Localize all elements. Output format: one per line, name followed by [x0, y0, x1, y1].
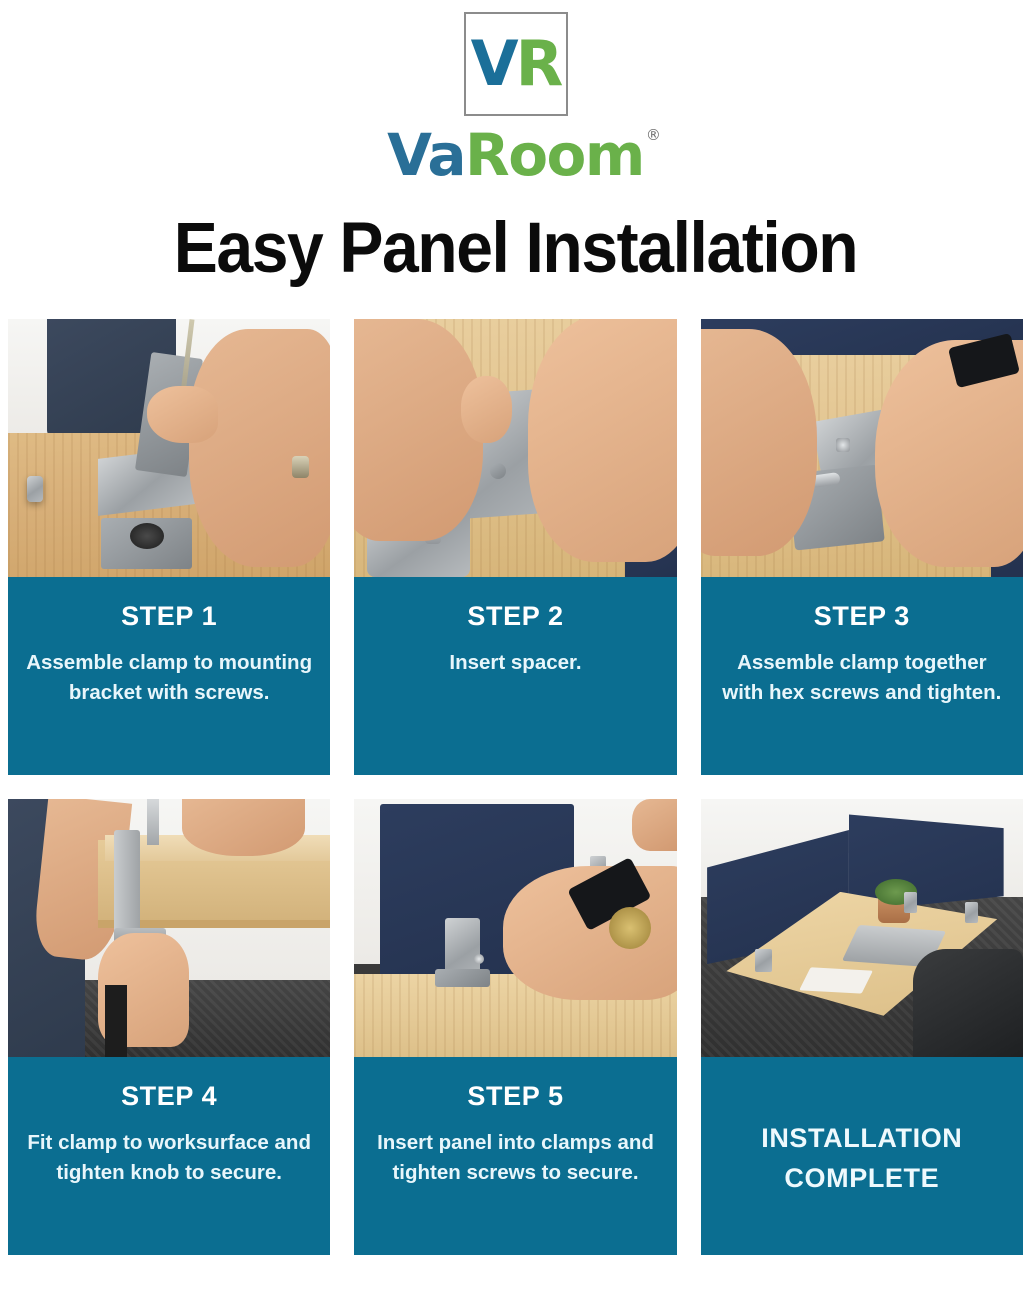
- photo-hand-top-corner: [632, 799, 677, 851]
- logo-wordmark: VaRoom®: [387, 126, 644, 184]
- step-card-3: STEP 3 Assemble clamp together with hex …: [701, 319, 1023, 775]
- step-caption-4: STEP 4 Fit clamp to worksurface and tigh…: [8, 1057, 330, 1255]
- step-photo-1: [8, 319, 330, 577]
- photo-clamp-foot: [435, 969, 490, 987]
- step-photo-4: [8, 799, 330, 1057]
- step-title-1: STEP 1: [22, 601, 316, 632]
- step-caption-2: STEP 2 Insert spacer.: [354, 577, 676, 775]
- step-photo-3: [701, 319, 1023, 577]
- steps-grid: STEP 1 Assemble clamp to mounting bracke…: [0, 319, 1031, 1255]
- logo-letter-r: R: [516, 27, 561, 100]
- logo-word-va: Va: [387, 121, 465, 189]
- photo-clamp-b: [904, 892, 917, 913]
- photo-ring: [292, 456, 309, 478]
- step-photo-5: [354, 799, 676, 1057]
- step-body-4: Fit clamp to worksurface and tighten kno…: [22, 1128, 316, 1187]
- photo-knob: [130, 523, 164, 549]
- step-body-2: Insert spacer.: [368, 648, 662, 678]
- logo-mark-letters: VR: [471, 33, 561, 95]
- step-body-1: Assemble clamp to mounting bracket with …: [22, 648, 316, 707]
- photo-hand-right: [189, 329, 331, 566]
- photo-office-chair: [913, 949, 1023, 1057]
- photo-clamp-screw: [474, 954, 484, 964]
- step-caption-1: STEP 1 Assemble clamp to mounting bracke…: [8, 577, 330, 775]
- step-body-3: Assemble clamp together with hex screws …: [715, 648, 1009, 707]
- logo-letter-v: V: [471, 27, 516, 100]
- step-caption-5: STEP 5 Insert panel into clamps and tigh…: [354, 1057, 676, 1255]
- brand-logo: VR VaRoom®: [0, 0, 1031, 184]
- step-photo-2: [354, 319, 676, 577]
- step-card-2: STEP 2 Insert spacer.: [354, 319, 676, 775]
- step-card-1: STEP 1 Assemble clamp to mounting bracke…: [8, 319, 330, 775]
- photo-clamp-a: [755, 949, 771, 972]
- photo-finger-tip: [461, 376, 513, 443]
- step-caption-3: STEP 3 Assemble clamp together with hex …: [701, 577, 1023, 775]
- photo-fingers: [147, 386, 218, 443]
- page-title: Easy Panel Installation: [36, 208, 995, 289]
- photo-desk-leg: [105, 985, 128, 1057]
- step-title-3: STEP 3: [715, 601, 1009, 632]
- step-card-5: STEP 5 Insert panel into clamps and tigh…: [354, 799, 676, 1255]
- photo-screw-loose: [27, 476, 43, 502]
- photo-hand-left: [354, 319, 483, 541]
- photo-clamp-c: [965, 902, 978, 923]
- step-title-2: STEP 2: [368, 601, 662, 632]
- photo-hand-right: [528, 319, 676, 562]
- logo-word-room: Room: [465, 121, 644, 189]
- installation-complete-text: INSTALLATION COMPLETE: [715, 1118, 1009, 1199]
- photo-hand-on-top: [182, 799, 304, 856]
- step-body-5: Insert panel into clamps and tighten scr…: [368, 1128, 662, 1187]
- photo-notebook: [799, 968, 873, 995]
- photo-clamp-post: [147, 799, 160, 845]
- step-title-5: STEP 5: [368, 1081, 662, 1112]
- registered-trademark-icon: ®: [646, 128, 661, 143]
- step-card-final: INSTALLATION COMPLETE: [701, 799, 1023, 1255]
- step-caption-final: INSTALLATION COMPLETE: [701, 1057, 1023, 1255]
- step-card-4: STEP 4 Fit clamp to worksurface and tigh…: [8, 799, 330, 1255]
- step-title-4: STEP 4: [22, 1081, 316, 1112]
- logo-mark-box: VR: [464, 12, 568, 116]
- photo-hex-screw: [836, 438, 850, 452]
- step-photo-final: [701, 799, 1023, 1057]
- photo-watch-face: [609, 907, 651, 949]
